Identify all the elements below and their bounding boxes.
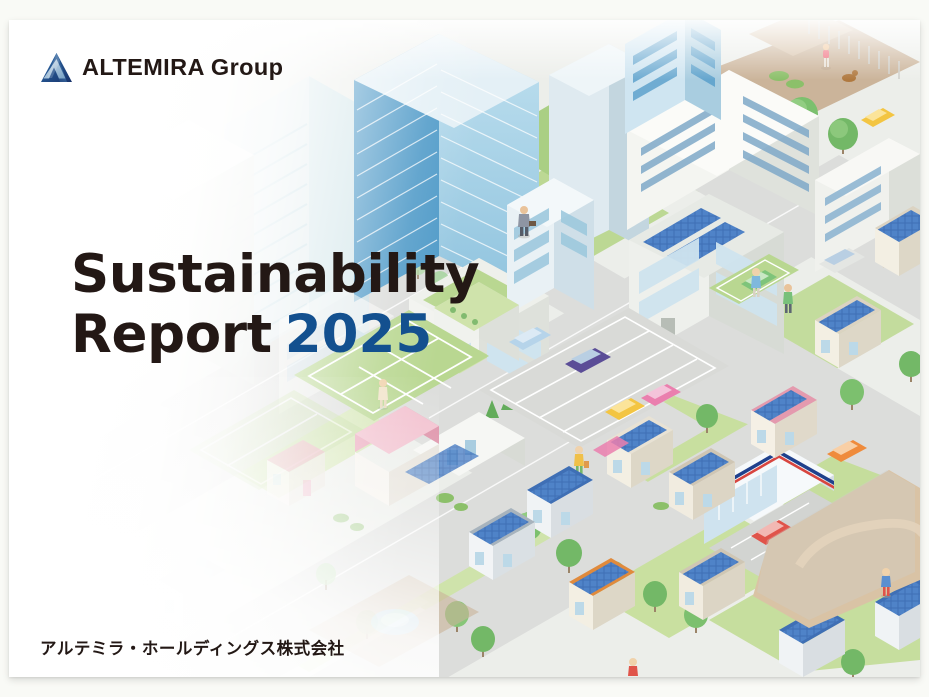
title-line-2: Report2025 — [71, 308, 479, 363]
title-line-1: Sustainability — [71, 248, 479, 303]
page-sheet: ALTEMIRA Group Sustainability Report2025… — [9, 20, 920, 677]
title-year: 2025 — [285, 304, 433, 365]
brand-logo: ALTEMIRA Group — [40, 52, 283, 83]
brand-logo-text: ALTEMIRA Group — [82, 56, 283, 80]
report-cover-page: ALTEMIRA Group Sustainability Report2025… — [0, 0, 929, 697]
person-cyclist — [628, 658, 638, 676]
cover-title-block: Sustainability Report2025 — [71, 248, 479, 362]
company-name: アルテミラ・ホールディングス株式会社 — [40, 635, 345, 659]
altemira-triangle-mark-icon — [40, 52, 73, 83]
title-report-word: Report — [71, 304, 272, 365]
